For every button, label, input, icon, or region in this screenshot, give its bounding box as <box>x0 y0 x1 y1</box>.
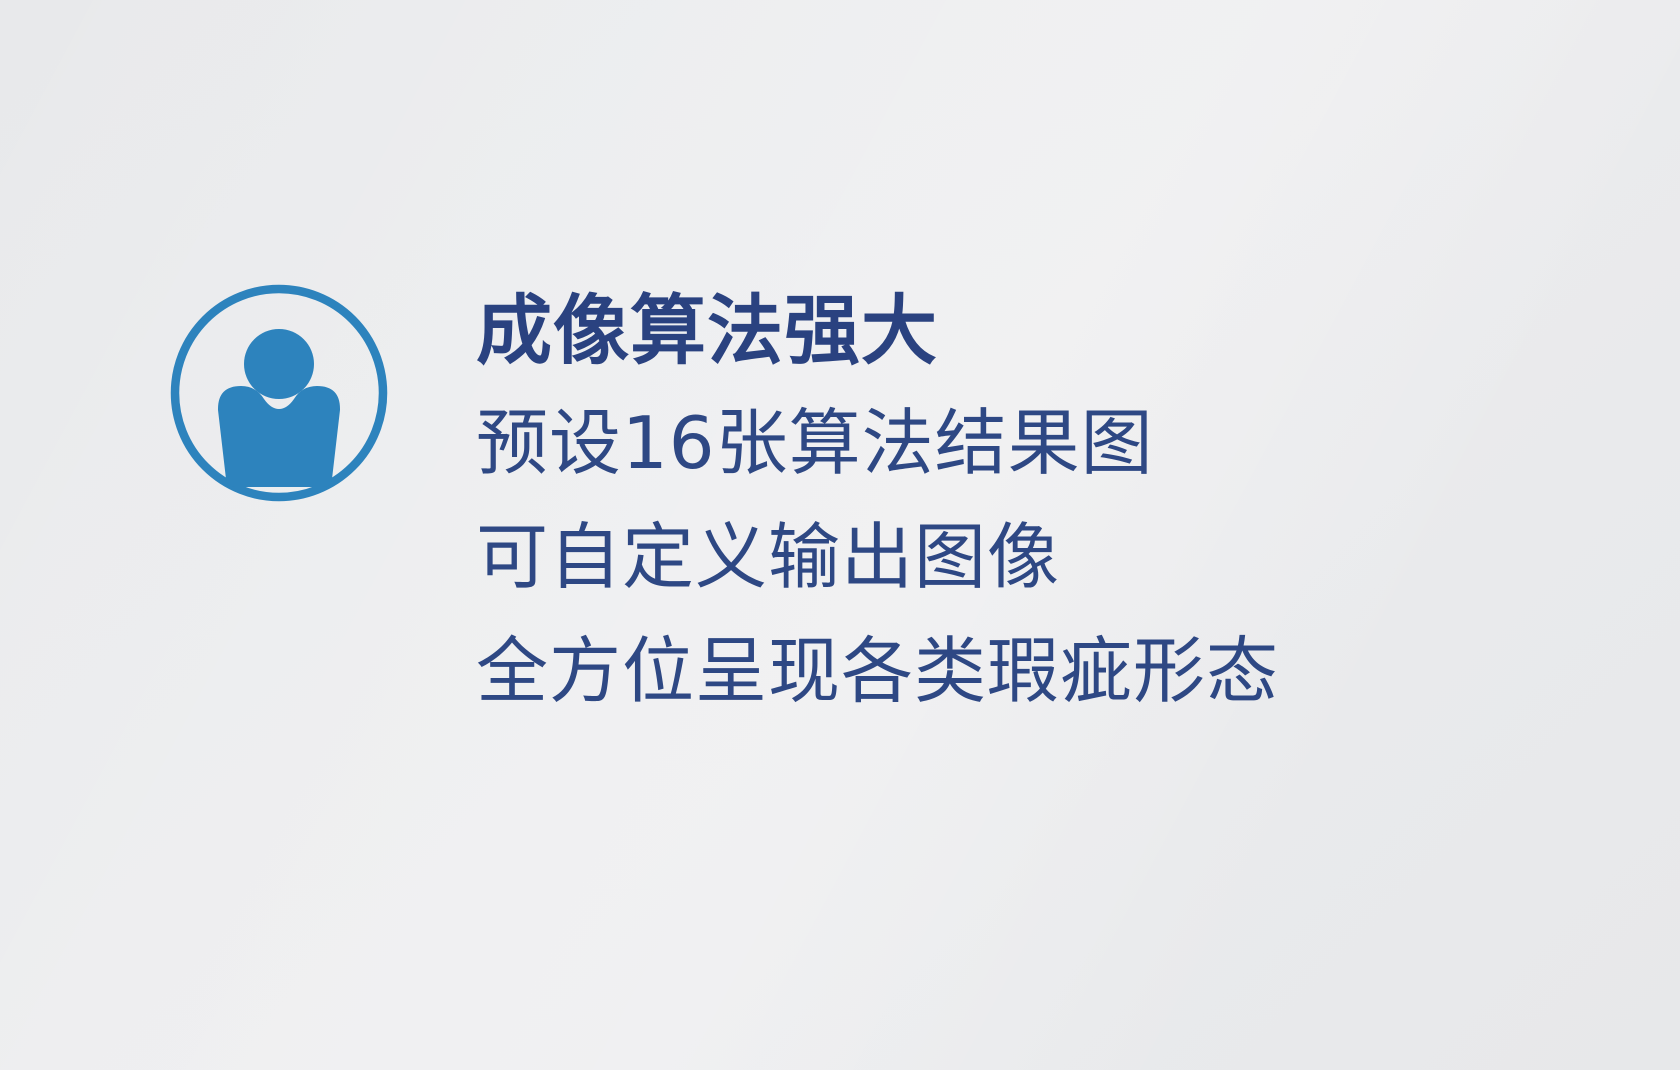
feature-description-list: 预设16张算法结果图 可自定义输出图像 全方位呈现各类瑕疵形态 <box>476 387 1596 728</box>
person-in-circle-icon-svg <box>168 282 390 504</box>
feature-slide: 成像算法强大 预设16张算法结果图 可自定义输出图像 全方位呈现各类瑕疵形态 <box>0 0 1680 1070</box>
text-block: 成像算法强大 预设16张算法结果图 可自定义输出图像 全方位呈现各类瑕疵形态 <box>476 288 1596 728</box>
person-head <box>244 329 314 399</box>
slide-content: 成像算法强大 预设16张算法结果图 可自定义输出图像 全方位呈现各类瑕疵形态 <box>0 0 1680 1070</box>
feature-line-2: 可自定义输出图像 <box>476 501 1596 615</box>
feature-line-1: 预设16张算法结果图 <box>476 387 1596 501</box>
page-title: 成像算法强大 <box>476 288 1596 373</box>
feature-line-3: 全方位呈现各类瑕疵形态 <box>476 615 1596 729</box>
person-in-circle-icon <box>168 282 390 504</box>
person-body <box>218 386 340 487</box>
